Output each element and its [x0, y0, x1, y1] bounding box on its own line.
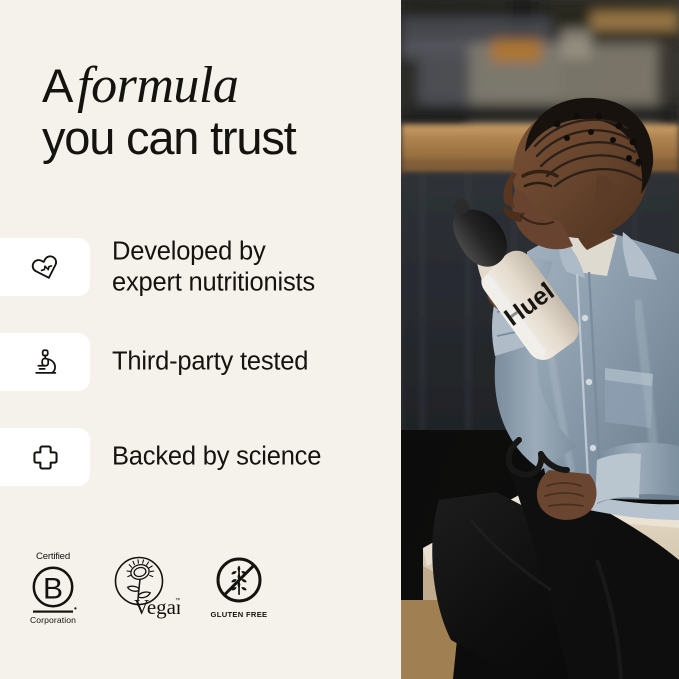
- vegan-society-badge: Vegan ™: [108, 550, 180, 624]
- photo-illustration: Huel: [401, 0, 679, 679]
- microscope-icon: [30, 347, 61, 378]
- feature-label: Developed by expert nutritionists: [112, 236, 315, 297]
- feature-list: Developed by expert nutritionists: [0, 238, 401, 523]
- certification-badges: Certified B Corporation: [24, 548, 272, 626]
- promo-graphic: Aformula you can trust: [0, 0, 679, 679]
- gluten-free-badge: GLUTEN FREE: [206, 551, 272, 623]
- headline-word-a: A: [42, 59, 72, 112]
- b-corp-letter: B: [43, 573, 63, 606]
- feature-icon-card: [0, 333, 90, 391]
- b-corp-badge: Certified B Corporation: [24, 548, 82, 626]
- headline-line-1: Aformula: [42, 58, 392, 113]
- b-corp-bottom-text: Corporation: [30, 615, 76, 625]
- page-title: Aformula you can trust: [42, 58, 392, 163]
- svg-text:™: ™: [175, 597, 180, 604]
- medical-cross-icon: [30, 442, 61, 473]
- lifestyle-photo: Huel: [401, 0, 679, 679]
- b-corp-top-text: Certified: [36, 551, 70, 562]
- headline-word-formula: formula: [72, 57, 238, 114]
- feature-icon-card: [0, 238, 90, 296]
- headline-line-2: you can trust: [42, 113, 392, 163]
- feature-row-backed-by-science: Backed by science: [0, 428, 401, 486]
- feature-row-developed-by-nutritionists: Developed by expert nutritionists: [0, 238, 401, 296]
- feature-label: Third-party tested: [112, 347, 308, 378]
- feature-row-third-party-tested: Third-party tested: [0, 333, 401, 391]
- feature-label: Backed by science: [112, 442, 321, 473]
- heart-pulse-icon: [30, 252, 61, 283]
- vegan-wordmark: Vegan: [134, 595, 180, 619]
- feature-icon-card: [0, 428, 90, 486]
- left-content-panel: Aformula you can trust: [0, 0, 401, 679]
- gluten-free-caption: GLUTEN FREE: [211, 610, 268, 619]
